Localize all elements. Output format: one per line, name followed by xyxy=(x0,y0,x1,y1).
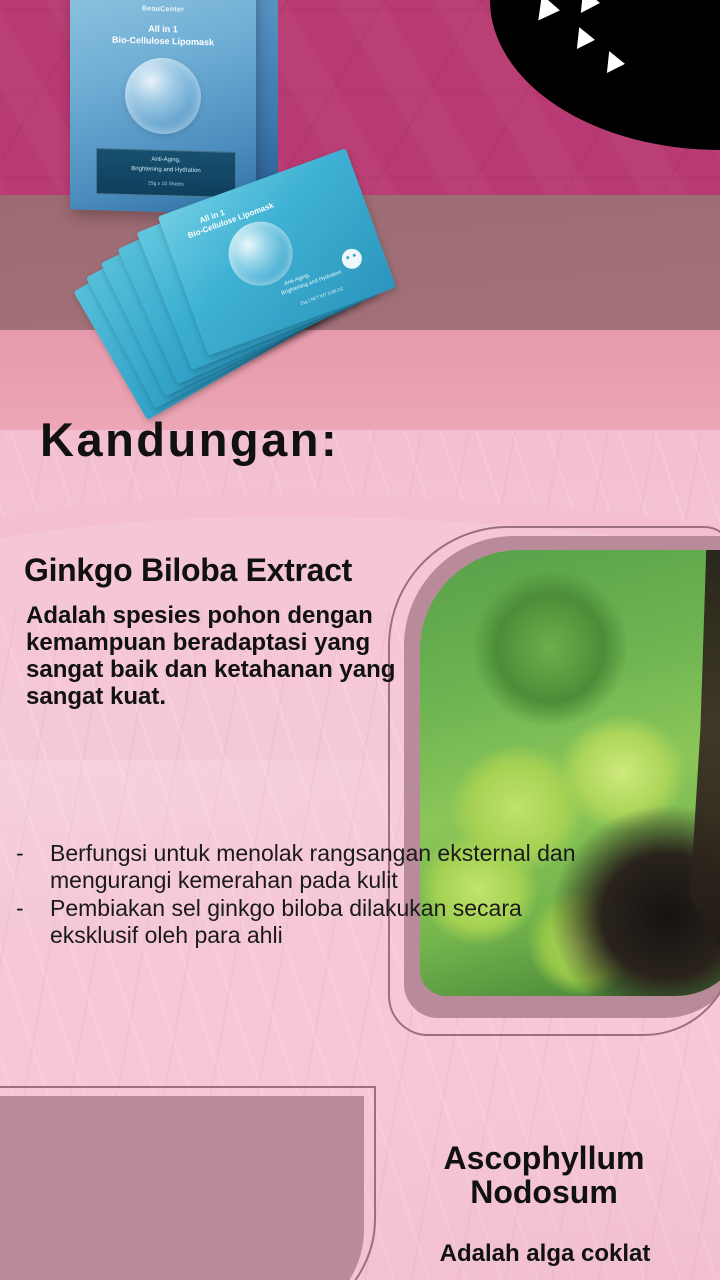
triangle-icon xyxy=(581,0,601,15)
bullet-text: Berfungsi untuk menolak rangsangan ekste… xyxy=(50,840,586,893)
bullet-marker: - xyxy=(16,895,50,948)
triangle-icon xyxy=(577,27,596,51)
face-mask-icon xyxy=(339,246,365,272)
box-benefit-line1: Anti-Aging, xyxy=(97,155,235,165)
product-photo-scene: ■□■□ BeauCenter All in 1 Bio-Cellulose L… xyxy=(0,0,720,430)
ingredient-heading-ascophyllum: Ascophyllum Nodosum xyxy=(394,1142,694,1210)
list-item: - Berfungsi untuk menolak rangsangan eks… xyxy=(16,840,586,893)
tree-bark xyxy=(690,550,720,996)
ginkgo-photo-blob xyxy=(404,536,720,1036)
brand-logo-icon: ■□■□ xyxy=(70,0,256,1)
ginkgo-bullet-list: - Berfungsi untuk menolak rangsangan eks… xyxy=(16,840,586,951)
bullet-text: Pembiakan sel ginkgo biloba dilakukan se… xyxy=(50,895,586,948)
bullet-marker: - xyxy=(16,840,50,893)
water-drop-graphic xyxy=(125,57,201,135)
sachet-stack: All in 1 Bio-Cellulose Lipomask Anti-Agi… xyxy=(95,170,495,400)
ingredient-description-ginkgo: Adalah spesies pohon dengan kemampuan be… xyxy=(26,602,406,710)
triangle-icon xyxy=(607,51,626,75)
ingredient-description-ascophyllum: Adalah alga coklat xyxy=(400,1240,690,1268)
seaweed-photo-blob xyxy=(0,1100,370,1280)
sachet-net-weight: 25g | NET WT 0.88 OZ xyxy=(299,286,344,306)
triangle-icon xyxy=(538,0,561,23)
ingredient-heading-ginkgo: Ginkgo Biloba Extract xyxy=(24,552,352,589)
list-item: - Pembiakan sel ginkgo biloba dilakukan … xyxy=(16,895,586,948)
ascophyllum-seaweed-photo xyxy=(0,1106,348,1280)
poster: ■□■□ BeauCenter All in 1 Bio-Cellulose L… xyxy=(0,0,720,1280)
brand-name: BeauCenter xyxy=(70,3,256,15)
page-title: Kandungan: xyxy=(40,412,339,467)
